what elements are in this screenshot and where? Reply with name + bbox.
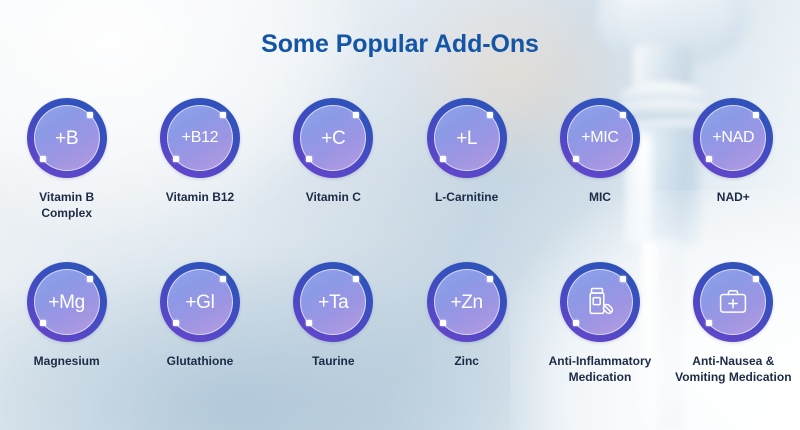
addon-badge-label: +L: [456, 129, 477, 148]
orbit-dot-bottom-left-icon: [706, 320, 712, 326]
orbit-dot-top-right-icon: [487, 112, 493, 118]
addon-label: Zinc: [454, 353, 479, 369]
orbit-dot-bottom-left-icon: [573, 156, 579, 162]
addon-badge-label: +C: [321, 129, 345, 148]
addon-badge[interactable]: +L: [427, 98, 507, 178]
addon-badge-label: +Mg: [48, 293, 85, 312]
orbit-dot-bottom-left-icon: [173, 320, 179, 326]
addon-label: Vitamin C: [306, 189, 361, 205]
addon-item-anti-inflammatory-medication[interactable]: Anti-Inflammatory Medication: [533, 262, 666, 385]
addon-badge-inner: +Gl: [167, 269, 233, 335]
addon-badge[interactable]: [560, 262, 640, 342]
addon-badge[interactable]: +Mg: [27, 262, 107, 342]
addon-label: MIC: [589, 189, 611, 205]
addon-badge[interactable]: [693, 262, 773, 342]
addon-label: L-Carnitine: [435, 189, 498, 205]
orbit-dot-bottom-left-icon: [173, 156, 179, 162]
addon-item-vitamin-c[interactable]: +C Vitamin C: [267, 98, 400, 221]
addon-item-taurine[interactable]: +Ta Taurine: [267, 262, 400, 385]
addon-badge-inner: +B: [34, 105, 100, 171]
addon-badge-inner: +MIC: [567, 105, 633, 171]
addon-badge-label: +B12: [182, 130, 219, 146]
orbit-dot-bottom-left-icon: [440, 320, 446, 326]
orbit-dot-top-right-icon: [753, 112, 759, 118]
addon-badge[interactable]: +Ta: [293, 262, 373, 342]
addon-badge[interactable]: +B12: [160, 98, 240, 178]
first-aid-kit-icon: [716, 285, 750, 319]
orbit-dot-bottom-left-icon: [306, 156, 312, 162]
orbit-dot-bottom-left-icon: [440, 156, 446, 162]
page-title: Some Popular Add-Ons: [0, 30, 800, 59]
addon-item-magnesium[interactable]: +Mg Magnesium: [0, 262, 133, 385]
orbit-dot-top-right-icon: [620, 112, 626, 118]
addon-badge-inner: +Mg: [34, 269, 100, 335]
orbit-dot-top-right-icon: [220, 112, 226, 118]
addon-label: Anti-Nausea & Vomiting Medication: [675, 353, 791, 385]
addon-item-mic[interactable]: +MIC MIC: [533, 98, 666, 221]
addon-badge-label: +MIC: [581, 130, 618, 146]
addons-row-1: +B Vitamin B Complex +B12 Vitamin B12: [0, 98, 800, 221]
orbit-dot-top-right-icon: [220, 276, 226, 282]
addon-label: Vitamin B Complex: [39, 189, 94, 221]
addon-label: Glutathione: [167, 353, 234, 369]
orbit-dot-top-right-icon: [487, 276, 493, 282]
pill-bottle-icon: [583, 285, 617, 319]
addon-badge-label: +Ta: [318, 293, 348, 312]
addon-item-vitamin-b-complex[interactable]: +B Vitamin B Complex: [0, 98, 133, 221]
addon-badge[interactable]: +Zn: [427, 262, 507, 342]
addon-badge-inner: +B12: [167, 105, 233, 171]
addon-badge-label: +Gl: [185, 293, 214, 312]
addon-label: Magnesium: [34, 353, 100, 369]
addon-item-anti-nausea-vomiting-medication[interactable]: Anti-Nausea & Vomiting Medication: [667, 262, 800, 385]
addon-badge-inner: [567, 269, 633, 335]
orbit-dot-top-right-icon: [753, 276, 759, 282]
addon-badge[interactable]: +NAD: [693, 98, 773, 178]
addon-item-zinc[interactable]: +Zn Zinc: [400, 262, 533, 385]
addons-banner: Some Popular Add-Ons +B Vitamin B Comple…: [0, 0, 800, 430]
addon-item-l-carnitine[interactable]: +L L-Carnitine: [400, 98, 533, 221]
addons-row-2: +Mg Magnesium +Gl Glutathione: [0, 262, 800, 385]
addon-label: Vitamin B12: [166, 189, 234, 205]
orbit-dot-top-right-icon: [353, 112, 359, 118]
addon-badge-inner: +NAD: [700, 105, 766, 171]
orbit-dot-bottom-left-icon: [40, 156, 46, 162]
addon-badge-inner: [700, 269, 766, 335]
addon-item-vitamin-b12[interactable]: +B12 Vitamin B12: [133, 98, 266, 221]
addon-badge[interactable]: +B: [27, 98, 107, 178]
orbit-dot-top-right-icon: [87, 112, 93, 118]
addon-badge-inner: +C: [300, 105, 366, 171]
addon-badge-inner: +L: [434, 105, 500, 171]
orbit-dot-bottom-left-icon: [706, 156, 712, 162]
banner-content: Some Popular Add-Ons +B Vitamin B Comple…: [0, 0, 800, 430]
orbit-dot-bottom-left-icon: [306, 320, 312, 326]
addon-badge-inner: +Ta: [300, 269, 366, 335]
addon-label: Taurine: [312, 353, 354, 369]
orbit-dot-top-right-icon: [353, 276, 359, 282]
orbit-dot-top-right-icon: [620, 276, 626, 282]
addon-item-glutathione[interactable]: +Gl Glutathione: [133, 262, 266, 385]
addon-badge-label: +Zn: [450, 293, 482, 312]
addon-badge-inner: +Zn: [434, 269, 500, 335]
addon-badge-label: +B: [55, 129, 78, 148]
addon-badge-label: +NAD: [712, 130, 754, 146]
addon-badge[interactable]: +Gl: [160, 262, 240, 342]
orbit-dot-bottom-left-icon: [40, 320, 46, 326]
addon-item-nad-plus[interactable]: +NAD NAD+: [667, 98, 800, 221]
orbit-dot-bottom-left-icon: [573, 320, 579, 326]
addon-badge[interactable]: +C: [293, 98, 373, 178]
orbit-dot-top-right-icon: [87, 276, 93, 282]
addon-badge[interactable]: +MIC: [560, 98, 640, 178]
addon-label: NAD+: [717, 189, 750, 205]
addon-label: Anti-Inflammatory Medication: [549, 353, 652, 385]
